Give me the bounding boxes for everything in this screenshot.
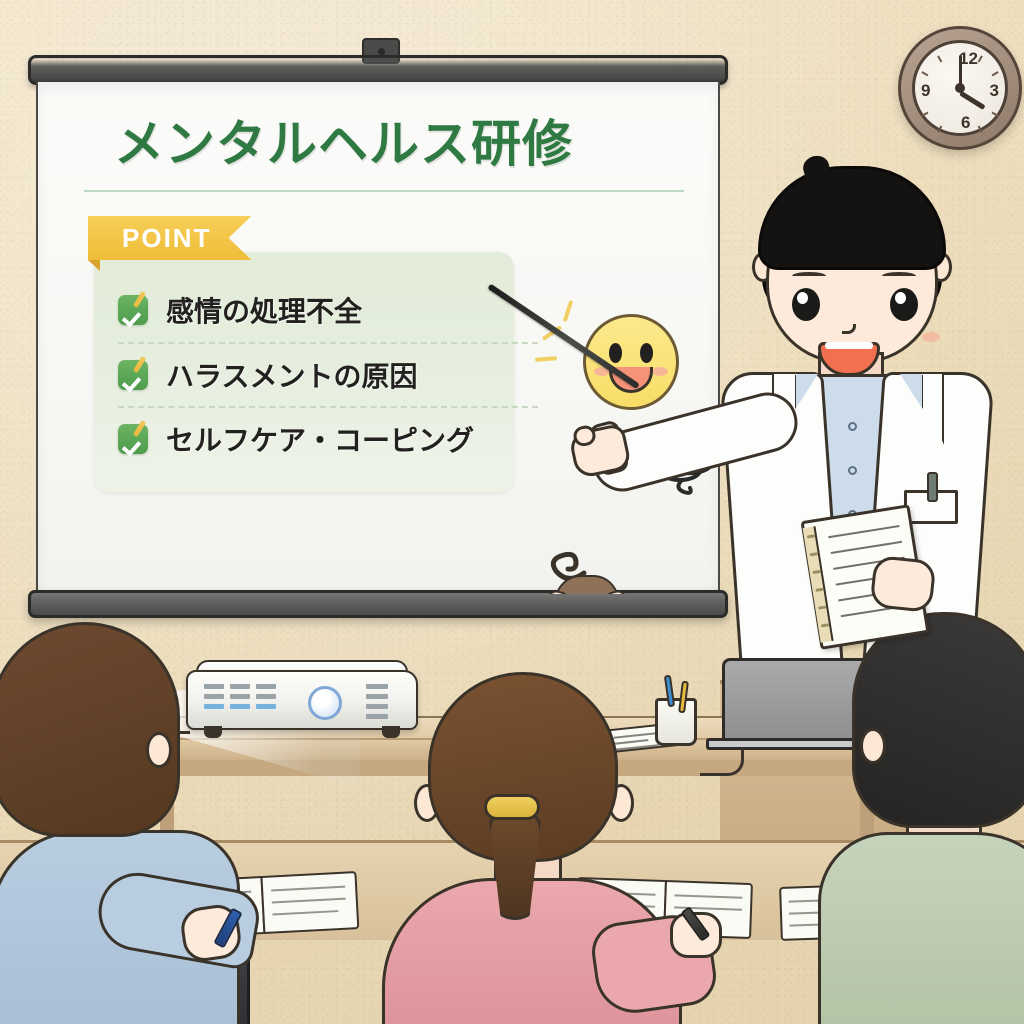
attendee-right-jacket xyxy=(818,832,1024,1024)
projector-vent xyxy=(366,694,388,699)
projector-vent xyxy=(366,704,388,709)
bullet-label: 感情の処理不全 xyxy=(166,290,362,330)
attendee-left-ear xyxy=(146,732,172,768)
training-room-scene: 12 3 6 9 メンタルヘルス研修 POINT 感情の xyxy=(0,0,1024,1024)
clock-tick xyxy=(978,55,983,62)
presenter-figure xyxy=(700,160,1000,680)
projector-screen[interactable]: メンタルヘルス研修 POINT 感情の処理不全 ハラスメントの原因 セルフケア・… xyxy=(36,82,720,594)
attendee-right xyxy=(818,606,1024,1024)
list-item: セルフケア・コーピング xyxy=(118,406,538,470)
attendee-left xyxy=(0,612,280,1024)
clock-tick xyxy=(937,126,942,133)
kid-hair xyxy=(555,575,619,594)
attendee-right-hair xyxy=(852,612,1024,828)
clock-center-pin xyxy=(955,83,965,93)
bullet-list: 感情の処理不全 ハラスメントの原因 セルフケア・コーピング xyxy=(118,278,538,470)
presenter-collar-right xyxy=(900,374,922,408)
checkbox-checked-icon xyxy=(118,424,148,454)
notepad-rule xyxy=(831,541,902,554)
notepad-rule xyxy=(828,525,899,538)
projector-lens xyxy=(308,686,342,720)
attendee-right-ear xyxy=(860,728,886,764)
screen-top-bar[interactable] xyxy=(28,55,728,85)
hair-tie xyxy=(484,794,540,820)
clock-hour-hand xyxy=(959,91,985,110)
clock-tick xyxy=(978,126,983,133)
presenter-cheek xyxy=(922,332,940,342)
clock-tick xyxy=(921,112,928,117)
presenter-brow-left xyxy=(792,272,826,280)
clock-tick xyxy=(921,71,928,76)
clock-tick xyxy=(937,55,942,62)
clock-number-9: 9 xyxy=(921,81,930,101)
smiley-blush-right xyxy=(652,367,668,376)
clock-face: 12 3 6 9 xyxy=(912,40,1008,136)
projector-vent xyxy=(366,714,388,719)
checkbox-checked-icon xyxy=(118,295,148,325)
checkbox-checked-icon xyxy=(118,360,148,390)
list-item: 感情の処理不全 xyxy=(118,278,538,342)
pocket-pen-icon xyxy=(927,472,938,502)
clock-tick xyxy=(992,71,999,76)
presenter-hair xyxy=(758,166,946,270)
shirt-button xyxy=(848,466,857,475)
presenter-hand-holding-notepad xyxy=(869,555,936,613)
projector-vent xyxy=(366,684,388,689)
presenter-eye-right xyxy=(890,288,918,321)
attendee-left-hair xyxy=(0,622,180,837)
presenter-collar-left xyxy=(796,374,818,408)
title-divider xyxy=(84,190,684,192)
smiley-eye-left xyxy=(609,343,622,363)
presenter-brow-right xyxy=(882,272,916,280)
clock-tick xyxy=(992,112,999,117)
clock-number-3: 3 xyxy=(990,81,999,101)
list-item: ハラスメントの原因 xyxy=(118,342,538,406)
presenter-eye-left xyxy=(792,288,820,321)
sparkle-line xyxy=(563,300,574,322)
slide-title: メンタルヘルス研修 xyxy=(114,104,573,176)
mount-hole xyxy=(378,48,385,55)
attendee-center xyxy=(386,668,706,1024)
wall-clock: 12 3 6 9 xyxy=(898,26,1022,150)
bullet-label: セルフケア・コーピング xyxy=(166,419,474,459)
point-ribbon-badge: POINT xyxy=(88,216,251,260)
laptop-cable xyxy=(700,748,744,776)
clock-number-12: 12 xyxy=(959,49,978,69)
clock-number-6: 6 xyxy=(961,113,970,133)
shirt-button xyxy=(848,422,857,431)
smiley-eye-right xyxy=(640,343,653,363)
sparkle-line xyxy=(535,356,557,362)
bullet-label: ハラスメントの原因 xyxy=(166,355,417,395)
